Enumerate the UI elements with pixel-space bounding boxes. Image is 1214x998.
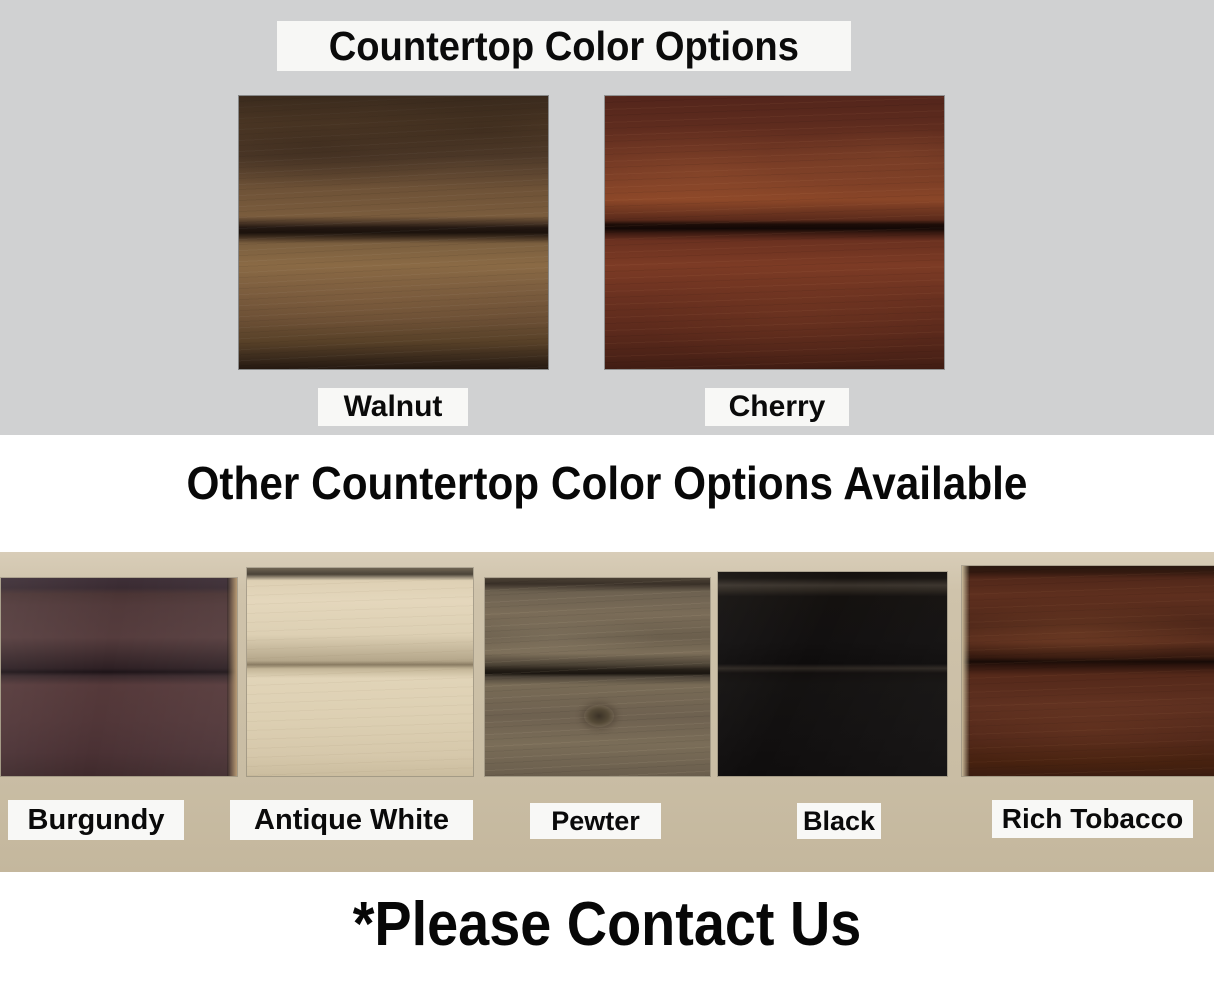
cherry-grain-texture	[605, 96, 944, 369]
burgundy-sheen-overlay	[1, 578, 237, 776]
swatch-label-black-text: Black	[803, 808, 875, 835]
contact-us-note: *Please Contact Us	[61, 894, 1154, 956]
walnut-swatch-image[interactable]	[239, 96, 548, 369]
antique-white-grain-texture	[247, 568, 473, 776]
swatch-label-antique-white: Antique White	[230, 800, 473, 840]
burgundy-swatch-image[interactable]	[1, 578, 237, 776]
swatch-label-black: Black	[797, 803, 881, 839]
rich-tobacco-panel-edge	[962, 566, 970, 776]
antique-white-swatch-image[interactable]	[247, 568, 473, 776]
pewter-wood-knot	[584, 705, 614, 727]
swatch-label-antique-white-text: Antique White	[254, 806, 449, 835]
page-title: Countertop Color Options	[329, 26, 799, 67]
page-title-band: Countertop Color Options	[277, 21, 851, 71]
swatch-label-walnut-text: Walnut	[344, 392, 443, 422]
black-sheen-overlay	[718, 572, 947, 776]
swatch-label-burgundy-text: Burgundy	[28, 806, 165, 835]
swatch-label-pewter: Pewter	[530, 803, 661, 839]
swatch-label-rich-tobacco: Rich Tobacco	[992, 800, 1193, 838]
rich-tobacco-grain-texture	[962, 566, 1214, 776]
pewter-swatch-image[interactable]	[485, 578, 710, 776]
swatch-label-cherry: Cherry	[705, 388, 849, 426]
swatch-label-burgundy: Burgundy	[8, 800, 184, 840]
countertop-color-options-page: Countertop Color Options Walnut Cherry O…	[0, 0, 1214, 998]
swatch-label-pewter-text: Pewter	[551, 808, 640, 835]
burgundy-panel-edge	[227, 578, 237, 776]
swatch-label-walnut: Walnut	[318, 388, 468, 426]
black-swatch-image[interactable]	[718, 572, 947, 776]
pewter-grain-texture	[485, 578, 710, 776]
other-options-heading: Other Countertop Color Options Available	[49, 460, 1166, 506]
swatch-label-rich-tobacco-text: Rich Tobacco	[1002, 805, 1184, 833]
cherry-swatch-image[interactable]	[605, 96, 944, 369]
walnut-shading-overlay	[239, 96, 548, 189]
rich-tobacco-swatch-image[interactable]	[962, 566, 1214, 776]
swatch-label-cherry-text: Cherry	[729, 392, 826, 422]
primary-options-section: Countertop Color Options Walnut Cherry	[0, 0, 1214, 435]
